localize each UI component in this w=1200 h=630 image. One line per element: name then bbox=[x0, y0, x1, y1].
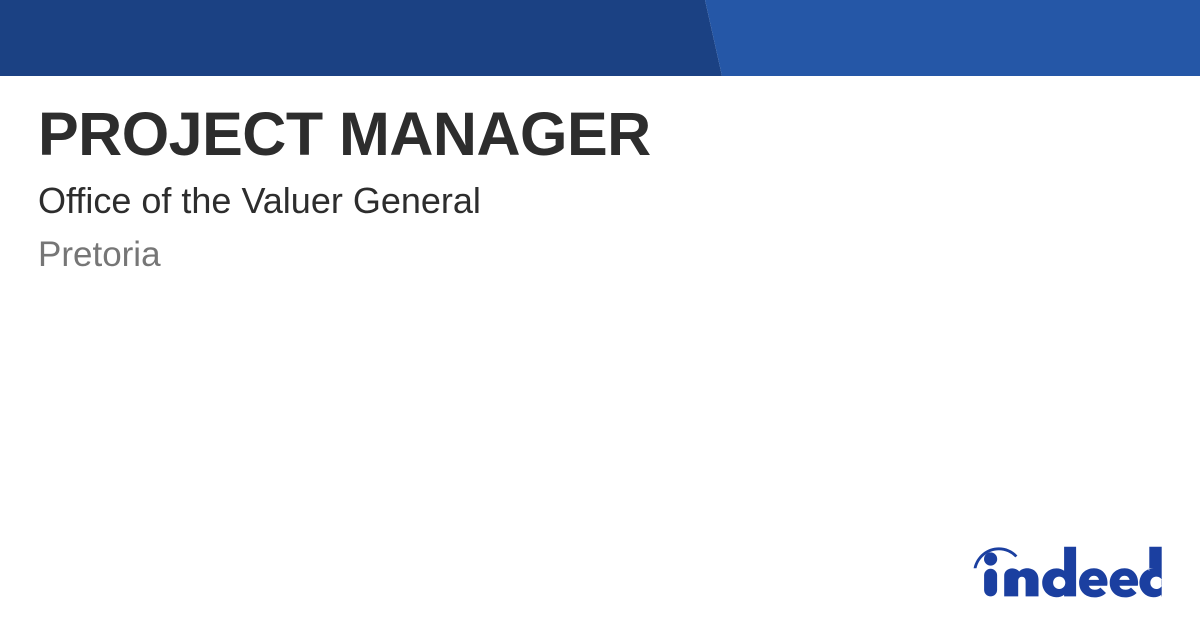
indeed-letter-e1 bbox=[1079, 568, 1107, 597]
job-location: Pretoria bbox=[38, 234, 1138, 275]
indeed-letter-d2 bbox=[1139, 547, 1162, 597]
indeed-i-dot bbox=[984, 552, 997, 565]
indeed-wordmark-icon bbox=[974, 547, 1162, 598]
indeed-letter-n bbox=[1004, 568, 1038, 596]
indeed-logo bbox=[972, 546, 1162, 598]
banner-light-segment bbox=[705, 0, 1200, 76]
job-info-block: PROJECT MANAGER Office of the Valuer Gen… bbox=[38, 76, 1138, 275]
indeed-letter-e2 bbox=[1110, 568, 1138, 597]
company-name: Office of the Valuer General bbox=[38, 180, 1138, 222]
job-title: PROJECT MANAGER bbox=[38, 102, 1138, 166]
top-banner bbox=[0, 0, 1200, 76]
indeed-letter-d1 bbox=[1042, 547, 1076, 597]
job-share-card: PROJECT MANAGER Office of the Valuer Gen… bbox=[0, 0, 1200, 630]
indeed-i-stem bbox=[984, 569, 997, 597]
banner-dark-segment bbox=[0, 0, 722, 76]
